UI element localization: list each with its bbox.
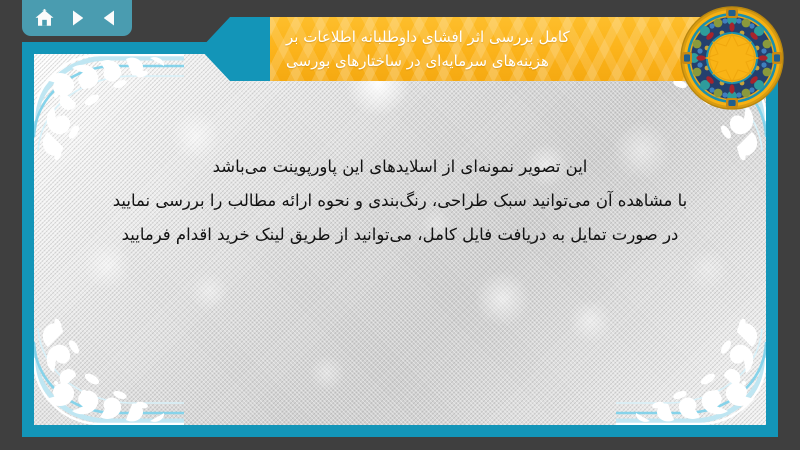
next-slide-button[interactable] bbox=[63, 4, 91, 32]
home-button[interactable] bbox=[30, 4, 58, 32]
slide-content-area: این تصویر نمونه‌ای از اسلایدهای این پاور… bbox=[34, 54, 766, 425]
persian-medallion-ornament-icon bbox=[680, 6, 784, 110]
home-icon bbox=[34, 8, 55, 29]
slide-body-text: این تصویر نمونه‌ای از اسلایدهای این پاور… bbox=[34, 150, 766, 252]
slide-title-banner: کامل بررسی اثر افشای داوطلبانه اطلاعات ب… bbox=[200, 17, 730, 81]
body-line-1: این تصویر نمونه‌ای از اسلایدهای این پاور… bbox=[34, 150, 766, 184]
slide-viewer: این تصویر نمونه‌ای از اسلایدهای این پاور… bbox=[0, 0, 800, 450]
arabesque-corner-bottom-right-icon bbox=[616, 303, 766, 425]
arabesque-corner-bottom-left-icon bbox=[34, 303, 184, 425]
banner-title-line-2: هزینه‌های سرمایه‌ای در ساختارهای بورسی bbox=[286, 49, 549, 73]
previous-slide-button[interactable] bbox=[96, 4, 124, 32]
body-line-3: در صورت تمایل به دریافت فایل کامل، می‌تو… bbox=[34, 218, 766, 252]
banner-title-line-1: کامل بررسی اثر افشای داوطلبانه اطلاعات ب… bbox=[286, 25, 570, 49]
triangle-right-icon bbox=[67, 8, 87, 28]
slide-canvas: این تصویر نمونه‌ای از اسلایدهای این پاور… bbox=[22, 42, 778, 437]
banner-title-bar: کامل بررسی اثر افشای داوطلبانه اطلاعات ب… bbox=[270, 17, 730, 81]
slide-navigation-bar bbox=[22, 0, 132, 36]
banner-arrow-tail-icon bbox=[200, 17, 276, 81]
body-line-2: با مشاهده آن می‌توانید سبک طراحی، رنگ‌بن… bbox=[34, 184, 766, 218]
triangle-left-icon bbox=[100, 8, 120, 28]
